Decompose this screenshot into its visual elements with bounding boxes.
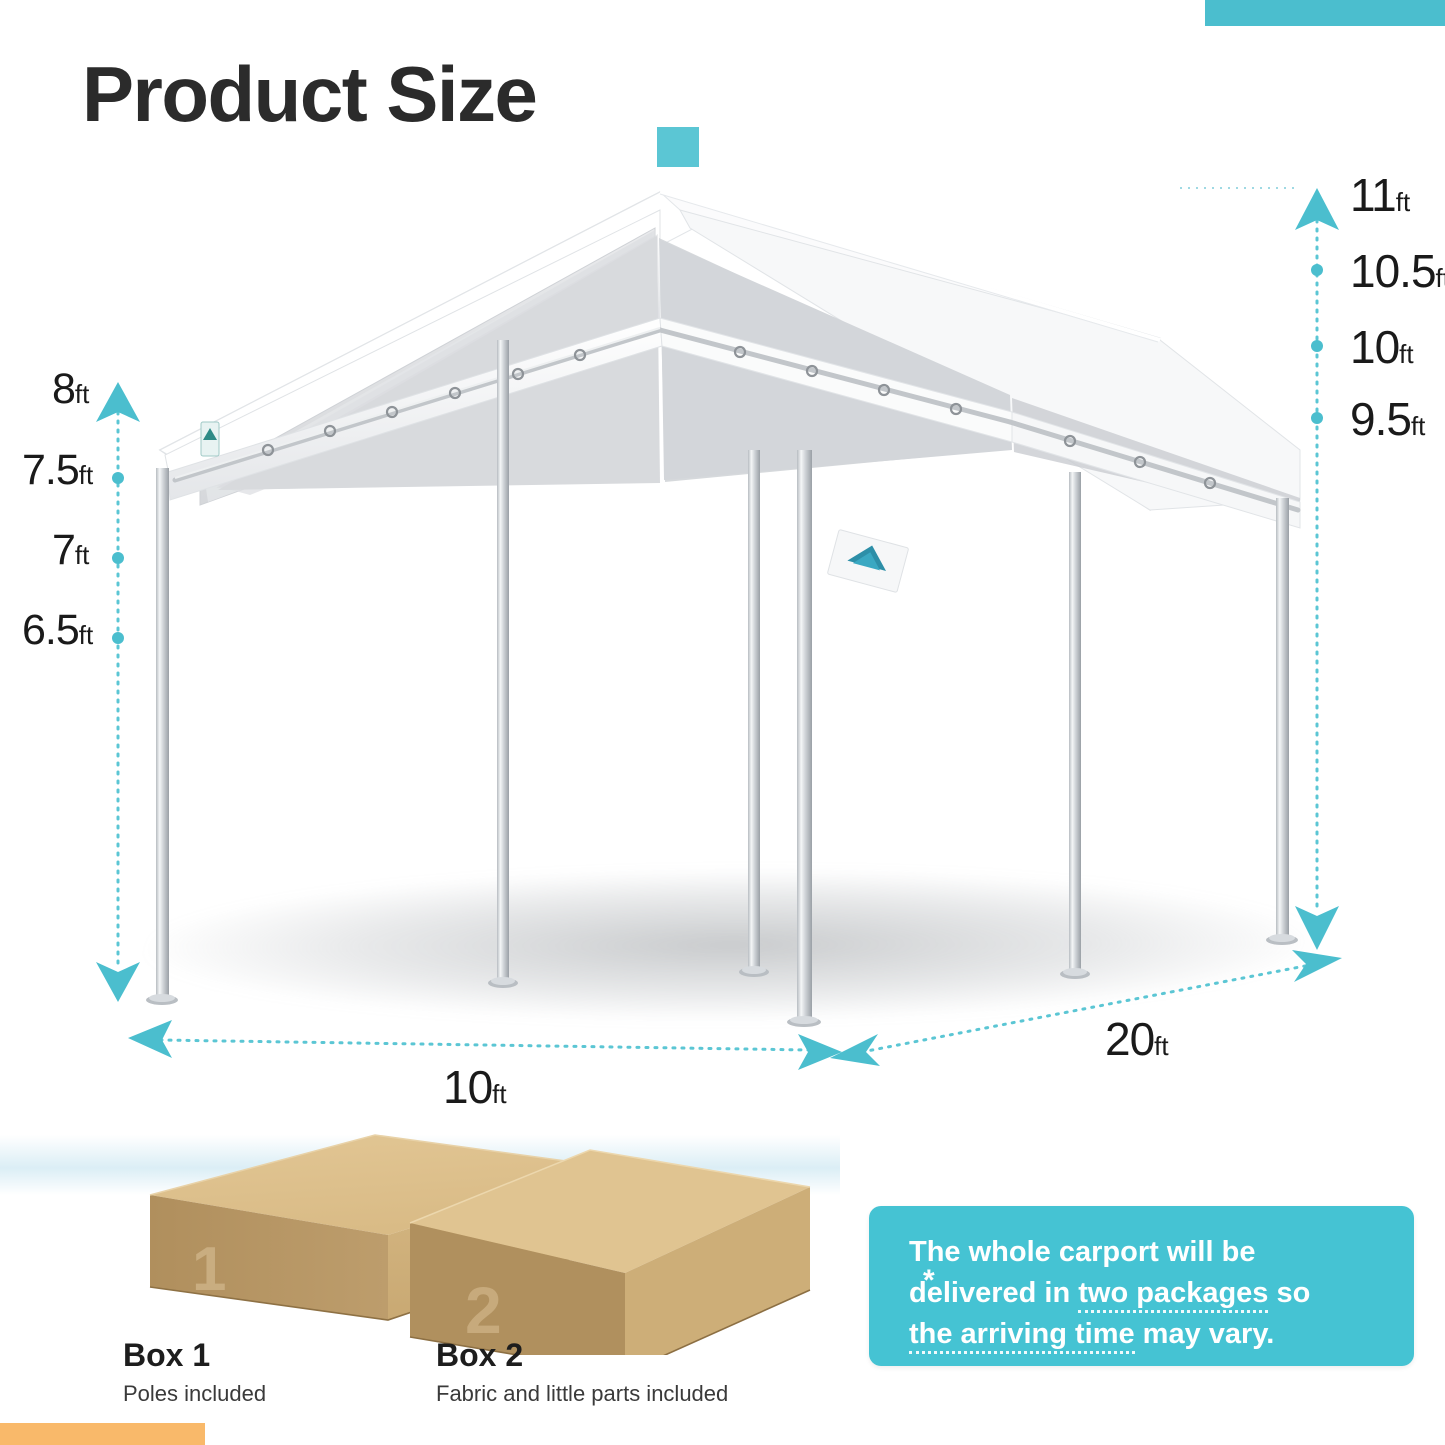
box-2-title: Box 2 [436, 1338, 728, 1373]
note-line-3: the arriving time may vary. [909, 1314, 1390, 1355]
right-height-label-0: 11ft [1350, 168, 1410, 222]
note-line-1: The whole carport will be [909, 1232, 1390, 1273]
box-2-subtitle: Fabric and little parts included [436, 1381, 728, 1407]
box-1-subtitle: Poles included [123, 1381, 266, 1407]
asterisk-icon: * [923, 1260, 935, 1303]
right-height-label-2: 10ft [1350, 320, 1414, 374]
depth-label: 20ft [1105, 1012, 1169, 1066]
box-2-caption: Box 2 Fabric and little parts included [436, 1338, 728, 1408]
infographic-canvas: Product Size [0, 0, 1445, 1445]
delivery-note-text: * The whole carport will be delivered in… [909, 1232, 1390, 1356]
left-height-label-0: 8ft [52, 365, 89, 414]
left-height-label-3: 6.5ft [22, 606, 93, 655]
right-height-label-1: 10.5ft [1350, 244, 1445, 298]
box-1-caption: Box 1 Poles included [123, 1338, 266, 1408]
carport-diagram: 8ft 7.5ft 7ft 6.5ft 11ft 10.5ft 10ft 9.5… [0, 150, 1445, 1100]
left-height-dimension [96, 382, 140, 1002]
top-right-accent-bar [1205, 0, 1445, 26]
carport-illustration [0, 150, 1445, 1100]
delivery-note-callout: * The whole carport will be delivered in… [869, 1206, 1414, 1366]
right-height-dimension [1180, 188, 1339, 950]
svg-text:2: 2 [465, 1273, 502, 1347]
page-title-text: Product Size [82, 55, 536, 133]
svg-text:1: 1 [192, 1235, 226, 1304]
left-height-label-1: 7.5ft [22, 446, 93, 495]
note-line-2: delivered in two packages so [909, 1273, 1390, 1314]
page-title: Product Size [82, 55, 536, 133]
shipping-boxes-illustration: 1 2 [120, 1105, 920, 1355]
right-height-label-3: 9.5ft [1350, 392, 1425, 446]
box-1-title: Box 1 [123, 1338, 266, 1373]
depth-dimension [830, 950, 1342, 1066]
left-height-label-2: 7ft [52, 526, 89, 575]
brand-logo [827, 529, 908, 592]
title-accent-square [657, 127, 699, 167]
